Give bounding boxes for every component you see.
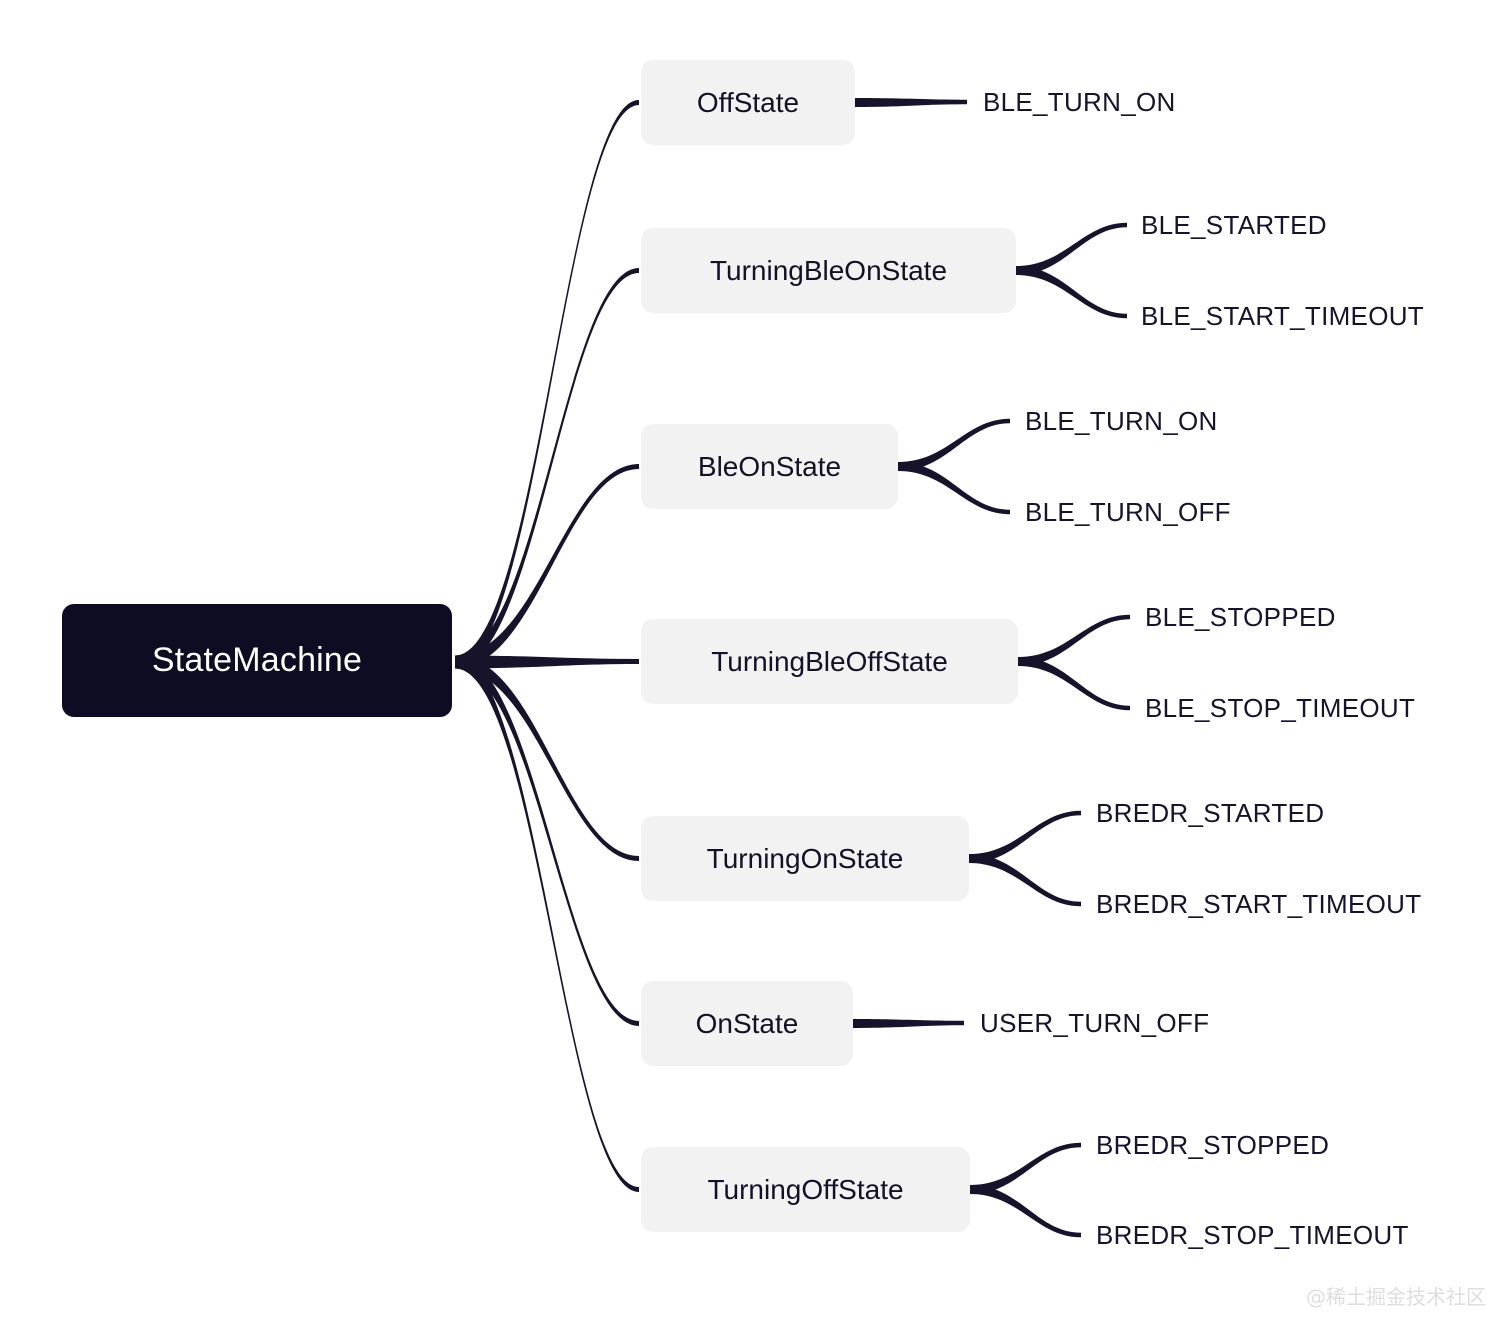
edge-root-to-turning-ble-on-state: [455, 268, 639, 669]
edge-on-state-to-user-turn-off: [853, 1019, 964, 1028]
mindmap-canvas: StateMachineOffStateBLE_TURN_ONTurningBl…: [0, 0, 1504, 1324]
edge-off-state-to-ble-turn-on: [855, 98, 967, 107]
edge-root-to-turning-ble-off-state: [455, 656, 639, 669]
leaf-label-user-turn-off[interactable]: USER_TURN_OFF: [980, 1010, 1209, 1036]
edge-turning-off-state-to-bredr-stop-timeout: [970, 1185, 1081, 1237]
leaf-label-bredr-stop-timeout[interactable]: BREDR_STOP_TIMEOUT: [1096, 1222, 1409, 1248]
edge-root-to-ble-on-state: [455, 464, 639, 669]
leaf-label-ble-turn-on[interactable]: BLE_TURN_ON: [983, 89, 1176, 115]
edge-root-to-off-state: [455, 100, 639, 669]
edge-turning-ble-on-state-to-ble-started: [1016, 223, 1127, 275]
branch-node-label: TurningBleOffState: [711, 646, 948, 678]
leaf-label-ble-start-timeout[interactable]: BLE_START_TIMEOUT: [1141, 303, 1424, 329]
root-node-label: StateMachine: [152, 641, 362, 680]
branch-node-on-state[interactable]: OnState: [641, 981, 853, 1066]
leaf-label-bredr-start-timeout[interactable]: BREDR_START_TIMEOUT: [1096, 891, 1421, 917]
leaf-label-bredr-started[interactable]: BREDR_STARTED: [1096, 800, 1324, 826]
edge-turning-ble-on-state-to-ble-start-timeout: [1016, 266, 1127, 318]
branch-node-label: BleOnState: [698, 451, 841, 483]
branch-node-turning-ble-on-state[interactable]: TurningBleOnState: [641, 228, 1016, 313]
edge-root-to-on-state: [455, 656, 639, 1027]
edge-turning-on-state-to-bredr-start-timeout: [969, 854, 1081, 906]
branch-node-label: TurningBleOnState: [710, 255, 947, 287]
branch-node-label: OnState: [696, 1008, 799, 1040]
branch-node-label: TurningOffState: [707, 1174, 903, 1206]
edge-ble-on-state-to-ble-turn-on: [898, 419, 1010, 471]
branch-node-ble-on-state[interactable]: BleOnState: [641, 424, 898, 509]
edge-turning-ble-off-state-to-ble-stopped: [1018, 615, 1130, 666]
branch-node-turning-ble-off-state[interactable]: TurningBleOffState: [641, 619, 1018, 704]
leaf-label-ble-stopped[interactable]: BLE_STOPPED: [1145, 604, 1336, 630]
root-node-statemachine[interactable]: StateMachine: [62, 604, 452, 717]
edge-root-to-turning-off-state: [455, 656, 639, 1193]
leaf-label-ble-started[interactable]: BLE_STARTED: [1141, 212, 1327, 238]
edge-turning-on-state-to-bredr-started: [969, 811, 1081, 863]
edge-root-to-turning-on-state: [455, 656, 639, 862]
branch-node-turning-off-state[interactable]: TurningOffState: [641, 1147, 970, 1232]
watermark: @稀土掘金技术社区: [1306, 1281, 1486, 1310]
branch-node-label: OffState: [697, 87, 799, 119]
branch-node-label: TurningOnState: [707, 843, 904, 875]
edge-turning-off-state-to-bredr-stopped: [970, 1143, 1081, 1194]
leaf-label-ble-turn-on[interactable]: BLE_TURN_ON: [1025, 408, 1218, 434]
branch-node-off-state[interactable]: OffState: [641, 60, 855, 145]
edge-turning-ble-off-state-to-ble-stop-timeout: [1018, 657, 1130, 710]
leaf-label-ble-stop-timeout[interactable]: BLE_STOP_TIMEOUT: [1145, 695, 1415, 721]
branch-node-turning-on-state[interactable]: TurningOnState: [641, 816, 969, 901]
edge-ble-on-state-to-ble-turn-off: [898, 462, 1010, 514]
leaf-label-ble-turn-off[interactable]: BLE_TURN_OFF: [1025, 499, 1231, 525]
leaf-label-bredr-stopped[interactable]: BREDR_STOPPED: [1096, 1132, 1329, 1158]
